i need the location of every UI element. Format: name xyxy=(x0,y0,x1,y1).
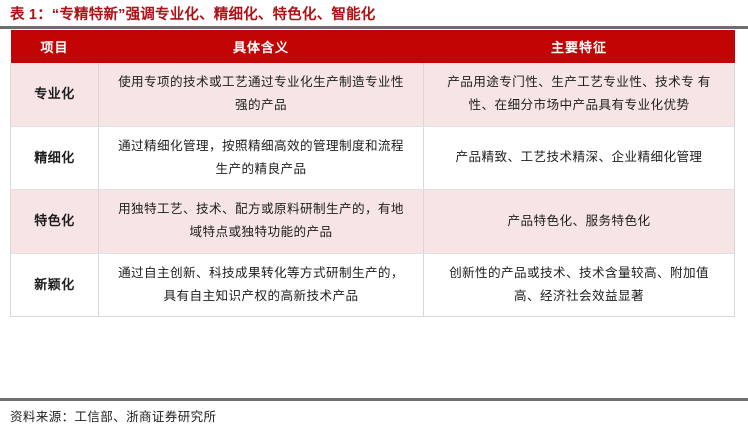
data-table-container: 项目 具体含义 主要特征 专业化 使用专项的技术或工艺通过专业化生产制造专业性强… xyxy=(10,30,734,317)
table-row: 特色化 用独特工艺、技术、配方或原料研制生产的，有地域特点或独特功能的产品 产品… xyxy=(11,190,735,254)
cell-item: 专业化 xyxy=(11,63,99,126)
data-table: 项目 具体含义 主要特征 专业化 使用专项的技术或工艺通过专业化生产制造专业性强… xyxy=(10,30,735,317)
table-row: 专业化 使用专项的技术或工艺通过专业化生产制造专业性强的产品 产品用途专门性、生… xyxy=(11,63,735,126)
cell-item: 精细化 xyxy=(11,126,99,190)
source-note: 资料来源：工信部、浙商证券研究所 xyxy=(10,406,216,425)
cell-meaning: 通过自主创新、科技成果转化等方式研制生产的，具有自主知识产权的高新技术产品 xyxy=(99,253,424,317)
cell-item: 特色化 xyxy=(11,190,99,254)
top-divider-rule xyxy=(0,26,748,29)
page-title: 表 1：“专精特新”强调专业化、精细化、特色化、智能化 xyxy=(10,3,376,24)
column-header-feature: 主要特征 xyxy=(424,30,735,63)
cell-meaning: 通过精细化管理，按照精细高效的管理制度和流程生产的精良产品 xyxy=(99,126,424,190)
table-body: 专业化 使用专项的技术或工艺通过专业化生产制造专业性强的产品 产品用途专门性、生… xyxy=(11,63,735,317)
column-header-meaning: 具体含义 xyxy=(99,30,424,63)
cell-meaning: 使用专项的技术或工艺通过专业化生产制造专业性强的产品 xyxy=(99,63,424,126)
cell-feature: 产品精致、工艺技术精深、企业精细化管理 xyxy=(424,126,735,190)
figure-title-bar: 表 1：“专精特新”强调专业化、精细化、特色化、智能化 xyxy=(10,1,738,25)
column-header-item: 项目 xyxy=(11,30,99,63)
cell-meaning: 用独特工艺、技术、配方或原料研制生产的，有地域特点或独特功能的产品 xyxy=(99,190,424,254)
cell-item: 新颖化 xyxy=(11,253,99,317)
table-header-row: 项目 具体含义 主要特征 xyxy=(11,30,735,63)
table-row: 新颖化 通过自主创新、科技成果转化等方式研制生产的，具有自主知识产权的高新技术产… xyxy=(11,253,735,317)
bottom-divider-rule xyxy=(0,398,748,401)
table-figure-page: 表 1：“专精特新”强调专业化、精细化、特色化、智能化 项目 具体含义 主要特征… xyxy=(0,0,748,430)
table-header: 项目 具体含义 主要特征 xyxy=(11,30,735,63)
cell-feature: 产品用途专门性、生产工艺专业性、技术专 有性、在细分市场中产品具有专业化优势 xyxy=(424,63,735,126)
table-row: 精细化 通过精细化管理，按照精细高效的管理制度和流程生产的精良产品 产品精致、工… xyxy=(11,126,735,190)
cell-feature: 创新性的产品或技术、技术含量较高、附加值高、经济社会效益显著 xyxy=(424,253,735,317)
cell-feature: 产品特色化、服务特色化 xyxy=(424,190,735,254)
